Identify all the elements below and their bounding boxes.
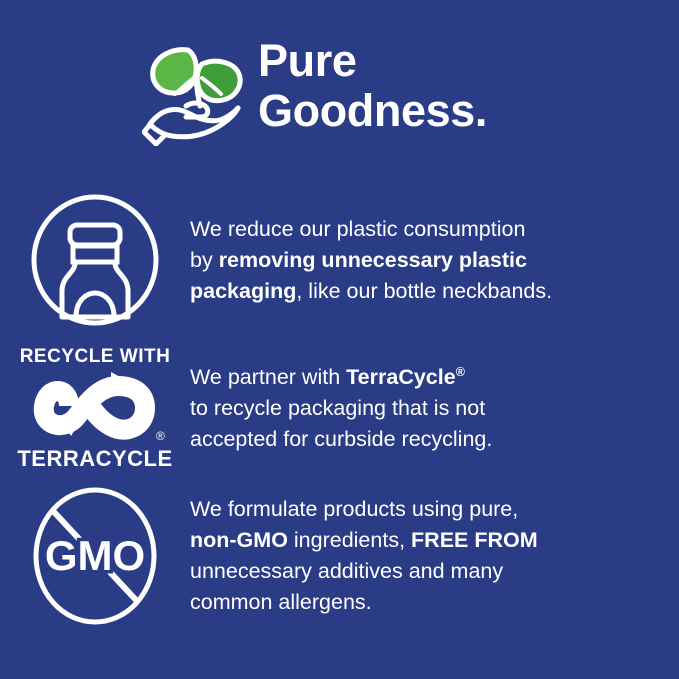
- terracycle-registered-mark: ®: [156, 429, 165, 443]
- gmo-label: GMO: [45, 532, 145, 579]
- feature-text-line: non-GMO ingredients, FREE FROM: [190, 525, 663, 556]
- brand-title-line-2: Goodness.: [258, 86, 487, 136]
- bottle-neckband-circle-icon: [0, 186, 190, 334]
- feature-text-line: common allergens.: [190, 587, 663, 618]
- feature-text-gmo: We formulate products using pure, non-GM…: [190, 494, 679, 618]
- feature-text-line: accepted for curbside recycling.: [190, 424, 663, 455]
- brand-title: Pure Goodness.: [258, 28, 487, 136]
- terracycle-top-text: RECYCLE WITH: [20, 346, 171, 367]
- no-gmo-circle-icon: GMO: [0, 482, 190, 630]
- feature-text-line: packaging, like our bottle neckbands.: [190, 276, 663, 307]
- feature-text-line: We partner with TerraCycle®: [190, 362, 663, 393]
- feature-row-gmo: GMO We formulate products using pure, no…: [0, 482, 679, 630]
- feature-text-line: by removing unnecessary plastic: [190, 245, 663, 276]
- brand-lockup: Pure Goodness.: [142, 28, 622, 160]
- terracycle-logo-icon: RECYCLE WITH ® TERRACYCLE: [0, 334, 190, 482]
- feature-text-line: We reduce our plastic consumption: [190, 214, 663, 245]
- feature-text-line: unnecessary additives and many: [190, 556, 663, 587]
- brand-title-line-1: Pure: [258, 36, 487, 86]
- feature-text-terracycle: We partner with TerraCycle® to recycle p…: [190, 362, 679, 455]
- feature-text-plastic: We reduce our plastic consumptionby remo…: [190, 214, 679, 307]
- feature-list: We reduce our plastic consumptionby remo…: [0, 186, 679, 630]
- feature-row-plastic: We reduce our plastic consumptionby remo…: [0, 186, 679, 334]
- feature-text-line: to recycle packaging that is not: [190, 393, 663, 424]
- hand-holding-sprout-icon: [142, 34, 252, 146]
- feature-text-line: We formulate products using pure,: [190, 494, 663, 525]
- feature-row-terracycle: RECYCLE WITH ® TERRACYCLE We partner wit…: [0, 334, 679, 482]
- terracycle-bottom-text: TERRACYCLE: [17, 446, 172, 471]
